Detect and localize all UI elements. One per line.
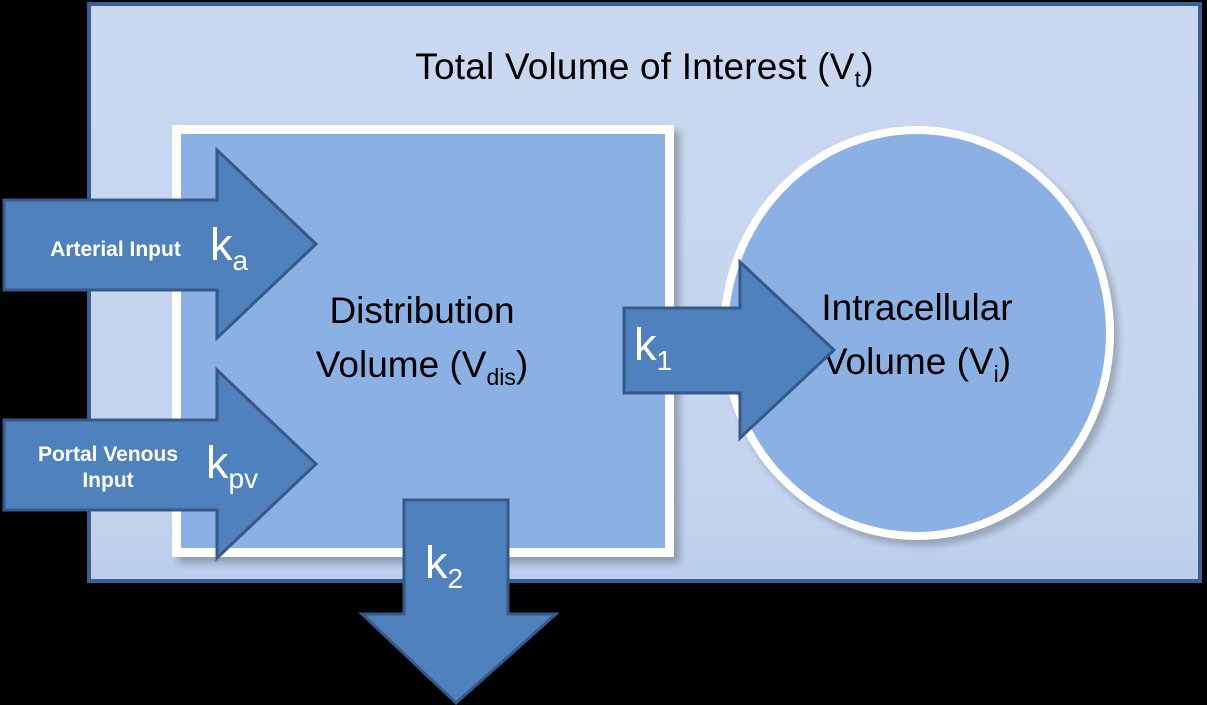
ka-rate-main: k <box>210 219 233 270</box>
intracellular-volume-label-line2-main: Volume (V <box>823 341 994 382</box>
ka-rate-subscript: a <box>233 245 249 276</box>
portal-venous-input-label: Portal Venous Input <box>14 442 202 495</box>
k2-rate-subscript: 2 <box>448 563 464 594</box>
ka-rate-label: ka <box>210 222 248 267</box>
k2-rate-main: k <box>425 537 448 588</box>
total-volume-title-close: ) <box>861 46 874 87</box>
total-volume-title-subscript: t <box>855 66 862 92</box>
intracellular-volume-label-line2-close: ) <box>999 341 1011 382</box>
portal-venous-input-label-line1: Portal Venous <box>14 442 202 468</box>
kpv-rate-subscript: pv <box>229 463 259 494</box>
total-volume-title-main: Total Volume of Interest (V <box>415 46 854 87</box>
kpv-rate-main: k <box>206 437 229 488</box>
distribution-volume-label-line2-main: Volume (V <box>316 344 487 385</box>
kpv-rate-label: kpv <box>206 440 258 485</box>
distribution-volume-label-line2-close: ) <box>516 344 528 385</box>
k2-rate-label: k2 <box>425 540 463 585</box>
total-volume-title: Total Volume of Interest (Vt) <box>91 46 1198 88</box>
diagram-canvas: Total Volume of Interest (Vt) Distributi… <box>0 0 1207 705</box>
distribution-volume-label-subscript: dis <box>486 364 515 390</box>
k1-rate-subscript: 1 <box>657 345 673 376</box>
k1-rate-main: k <box>634 319 657 370</box>
portal-venous-input-label-line2: Input <box>14 468 202 494</box>
k2-efflux-arrow-icon <box>360 498 560 705</box>
k2-efflux-arrow <box>360 498 560 705</box>
intracellular-volume-label-subscript: i <box>994 361 999 387</box>
k1-rate-label: k1 <box>634 322 672 367</box>
arterial-input-label: Arterial Input <box>28 237 203 263</box>
